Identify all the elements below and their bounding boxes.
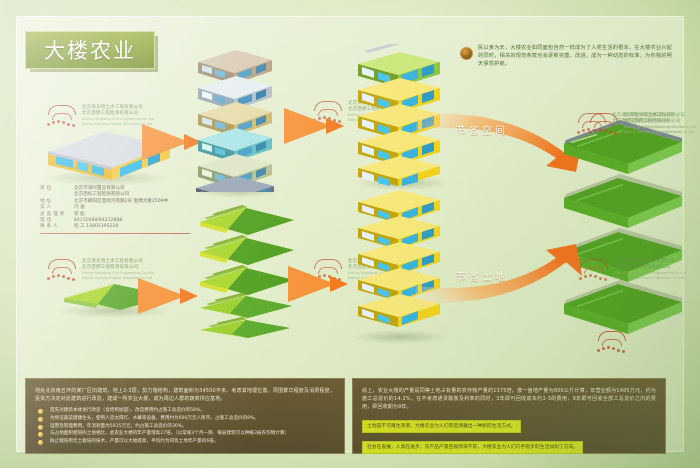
contact-value: 北京市朝阳区西坝河南路2号 金隅大厦2509中 (74, 199, 170, 205)
stack-lower-shadow (352, 330, 448, 344)
panel-left-bullet-list: 首先对建筑本体进行改造（含结构加固），改造费用约占施工总造价的58%。 为保证蔬… (26, 407, 344, 445)
contact-value: 程 工 13801395228 (74, 224, 170, 230)
panel-left: 地处北京南五环的某厂区旧建筑，地上2-3层，剪力墙结构，建筑面积为34500平米… (25, 378, 345, 454)
logo-right-overlay: 北京清东博土木工程有限公司 北京西野工程检测有限公司 Beijing Qingd… (588, 112, 700, 136)
panel-right-paragraph: 综上，农业大楼的产量是同等土地占有量的农作物产量的1375倍。按一亩地产量为80… (353, 379, 665, 412)
logo-right-footer-mark (596, 330, 636, 354)
field-5 (200, 205, 294, 235)
company-logo-icon (596, 330, 630, 354)
highlight-text: 土地是不可再生资源，大楼农业为人们营造清雅出一种新的生活方式。 (362, 420, 521, 433)
company-logo-icon (588, 112, 622, 136)
panel-left-paragraph: 地处北京南五环的某厂区旧建筑，地上2-3层，剪力墙结构，建筑面积为34500平米… (26, 379, 344, 403)
contact-key: 联系人 (40, 224, 74, 230)
platform-3 (564, 174, 682, 228)
logo-en-line2: Beijing Xiyewan Project Detection Co.,Lt… (624, 130, 700, 135)
bullet-item: 运营及管理费用，年消耗量为5015万元，约占施工总造价的30%。 (34, 423, 336, 431)
six-story-colored-building (192, 40, 278, 192)
flow-arrow-save-land (414, 240, 594, 326)
field-4 (200, 235, 294, 265)
arrow-label-save-land: 节省土地 (456, 268, 508, 283)
bullet-item: 为保证蔬菜健康生长，使用人造太阳灯、水幕等设备，费用约为600万元人民币，占施工… (34, 415, 336, 423)
contact-table: 单位北京市海时置业有限公司 北京西机工程检测有限公司 地址北京市朝阳区西坝河南路… (40, 186, 170, 231)
contact-divider (40, 233, 190, 234)
bullet-item: 与占地面积相同的土地相比，此农业大楼的年产量增高27倍。（以常规3个月一熟、每层… (34, 430, 336, 438)
highlight-text: 社会在发展，人类在进步，农产品产量百般停滞不前，大楼农业为人们巧手稳步的生活加树… (362, 441, 583, 454)
contact-card: 单位北京市海时置业有限公司 北京西机工程检测有限公司 地址北京市朝阳区西坝河南路… (40, 186, 190, 234)
page-title: 大楼农业 (25, 31, 155, 69)
field-3 (200, 265, 294, 295)
flow-arrow-4 (286, 262, 352, 306)
bullet-item: 首先对建筑本体进行改造（含结构加固），改造费用约占施工总造价的58%。 (34, 407, 336, 415)
bullet-item: 防止栽培用无土栽培的技术，产量可以大幅提高，平均约为同等土地年产量的6倍。 (34, 438, 336, 446)
note-text: 民以食为天，大楼农业如同面包自然一样成为了人类生活的根本，在大楼农业兴起的同时，… (478, 44, 672, 68)
top-note: 民以食为天，大楼农业如同面包自然一样成为了人类生活的根本，在大楼农业兴起的同时，… (460, 44, 672, 68)
arrow-label-save-space: 节省空间 (456, 122, 508, 137)
note-bullet-icon (460, 47, 473, 60)
field-1 (200, 317, 290, 338)
contact-row: 联系人程 工 13801395228 (40, 224, 170, 230)
company-logo-icon (578, 258, 612, 282)
field-2 (200, 293, 292, 318)
panel-right: 综上，农业大楼的产量是同等土地占有量的农作物产量的1375倍。按一亩地产量为80… (352, 378, 666, 454)
poster-canvas: 大楼农业 北京清东博土木工程有限公司 北京西野工程检测有限公司 Beijing … (0, 0, 700, 468)
flow-arrow-2 (282, 104, 348, 148)
panel-right-highlights: 土地是不可再生资源，大楼农业为人们营造清雅出一种新的生活方式。 社会在发展，人类… (353, 412, 665, 454)
page-title-text: 大楼农业 (44, 35, 136, 65)
logo-en-line2: Beijing Xiyewan Project Detection Co.,Lt… (614, 276, 690, 281)
logo-right-bottom: 北京清东博土木工程有限公司 北京西野工程检测有限公司 Beijing Qingd… (578, 258, 690, 282)
